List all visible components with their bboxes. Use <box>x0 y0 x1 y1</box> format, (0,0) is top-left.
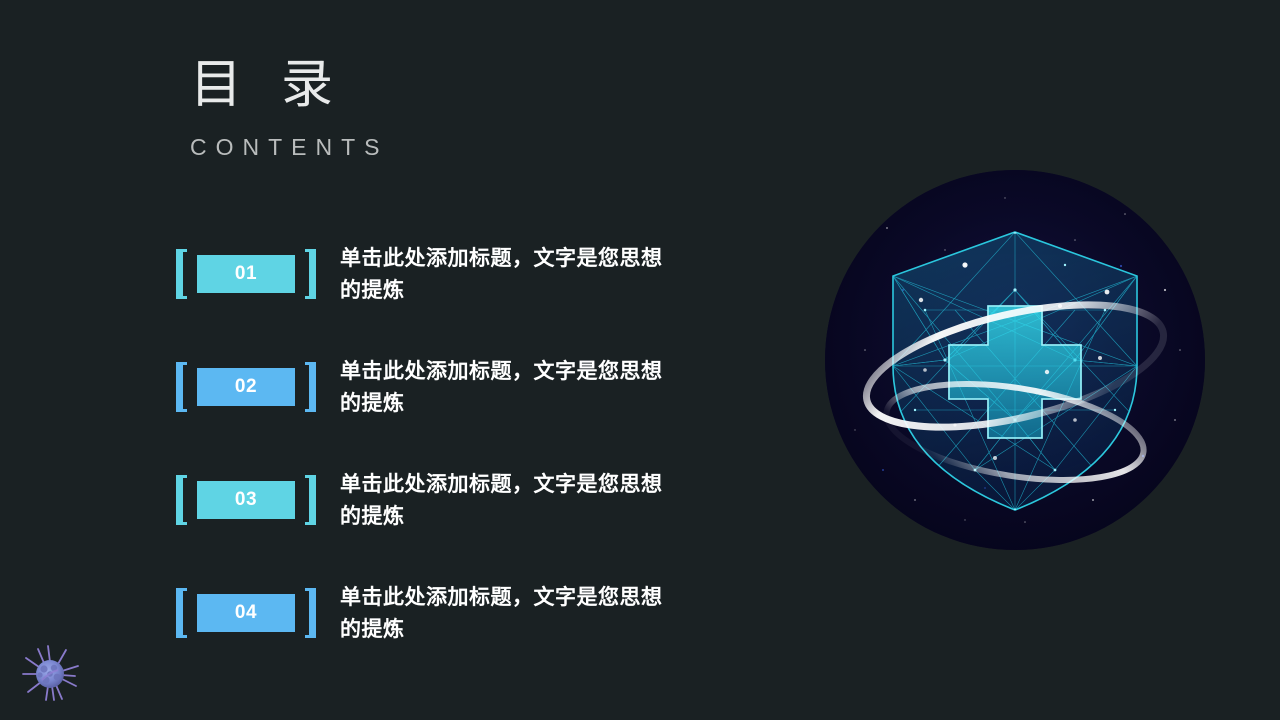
item-number: 01 <box>197 255 295 293</box>
virus-cell-icon <box>18 640 82 704</box>
bracket-right-icon <box>305 588 316 638</box>
list-item[interactable]: 01 单击此处添加标题，文字是您思想的提炼 <box>176 245 696 303</box>
list-item[interactable]: 04 单击此处添加标题，文字是您思想的提炼 <box>176 584 696 642</box>
page-title: 目 录 <box>190 56 389 114</box>
item-label: 单击此处添加标题，文字是您思想的提炼 <box>340 468 680 532</box>
bracket-right-icon <box>305 249 316 299</box>
shield-network-cross-icon <box>825 170 1205 550</box>
item-number-badge-group: 04 <box>176 585 316 641</box>
item-label: 单击此处添加标题，文字是您思想的提炼 <box>340 242 680 306</box>
bracket-left-icon <box>176 588 187 638</box>
shield-artwork-svg <box>825 170 1205 550</box>
page-subtitle: CONTENTS <box>190 134 389 160</box>
item-number: 04 <box>197 594 295 632</box>
bracket-left-icon <box>176 475 187 525</box>
item-label: 单击此处添加标题，文字是您思想的提炼 <box>340 355 680 419</box>
item-number: 03 <box>197 481 295 519</box>
item-number: 02 <box>197 368 295 406</box>
item-number-badge-group: 01 <box>176 246 316 302</box>
bracket-left-icon <box>176 362 187 412</box>
bracket-left-icon <box>176 249 187 299</box>
item-number-badge-group: 03 <box>176 472 316 528</box>
bracket-right-icon <box>305 475 316 525</box>
item-number-badge-group: 02 <box>176 359 316 415</box>
page-title-block: 目 录 CONTENTS <box>190 56 389 160</box>
bracket-right-icon <box>305 362 316 412</box>
list-item[interactable]: 03 单击此处添加标题，文字是您思想的提炼 <box>176 471 696 529</box>
contents-list: 01 单击此处添加标题，文字是您思想的提炼 02 单击此处添加标题，文字是您思想… <box>176 245 696 642</box>
item-label: 单击此处添加标题，文字是您思想的提炼 <box>340 581 680 645</box>
list-item[interactable]: 02 单击此处添加标题，文字是您思想的提炼 <box>176 358 696 416</box>
virus-cell-svg <box>18 640 82 704</box>
